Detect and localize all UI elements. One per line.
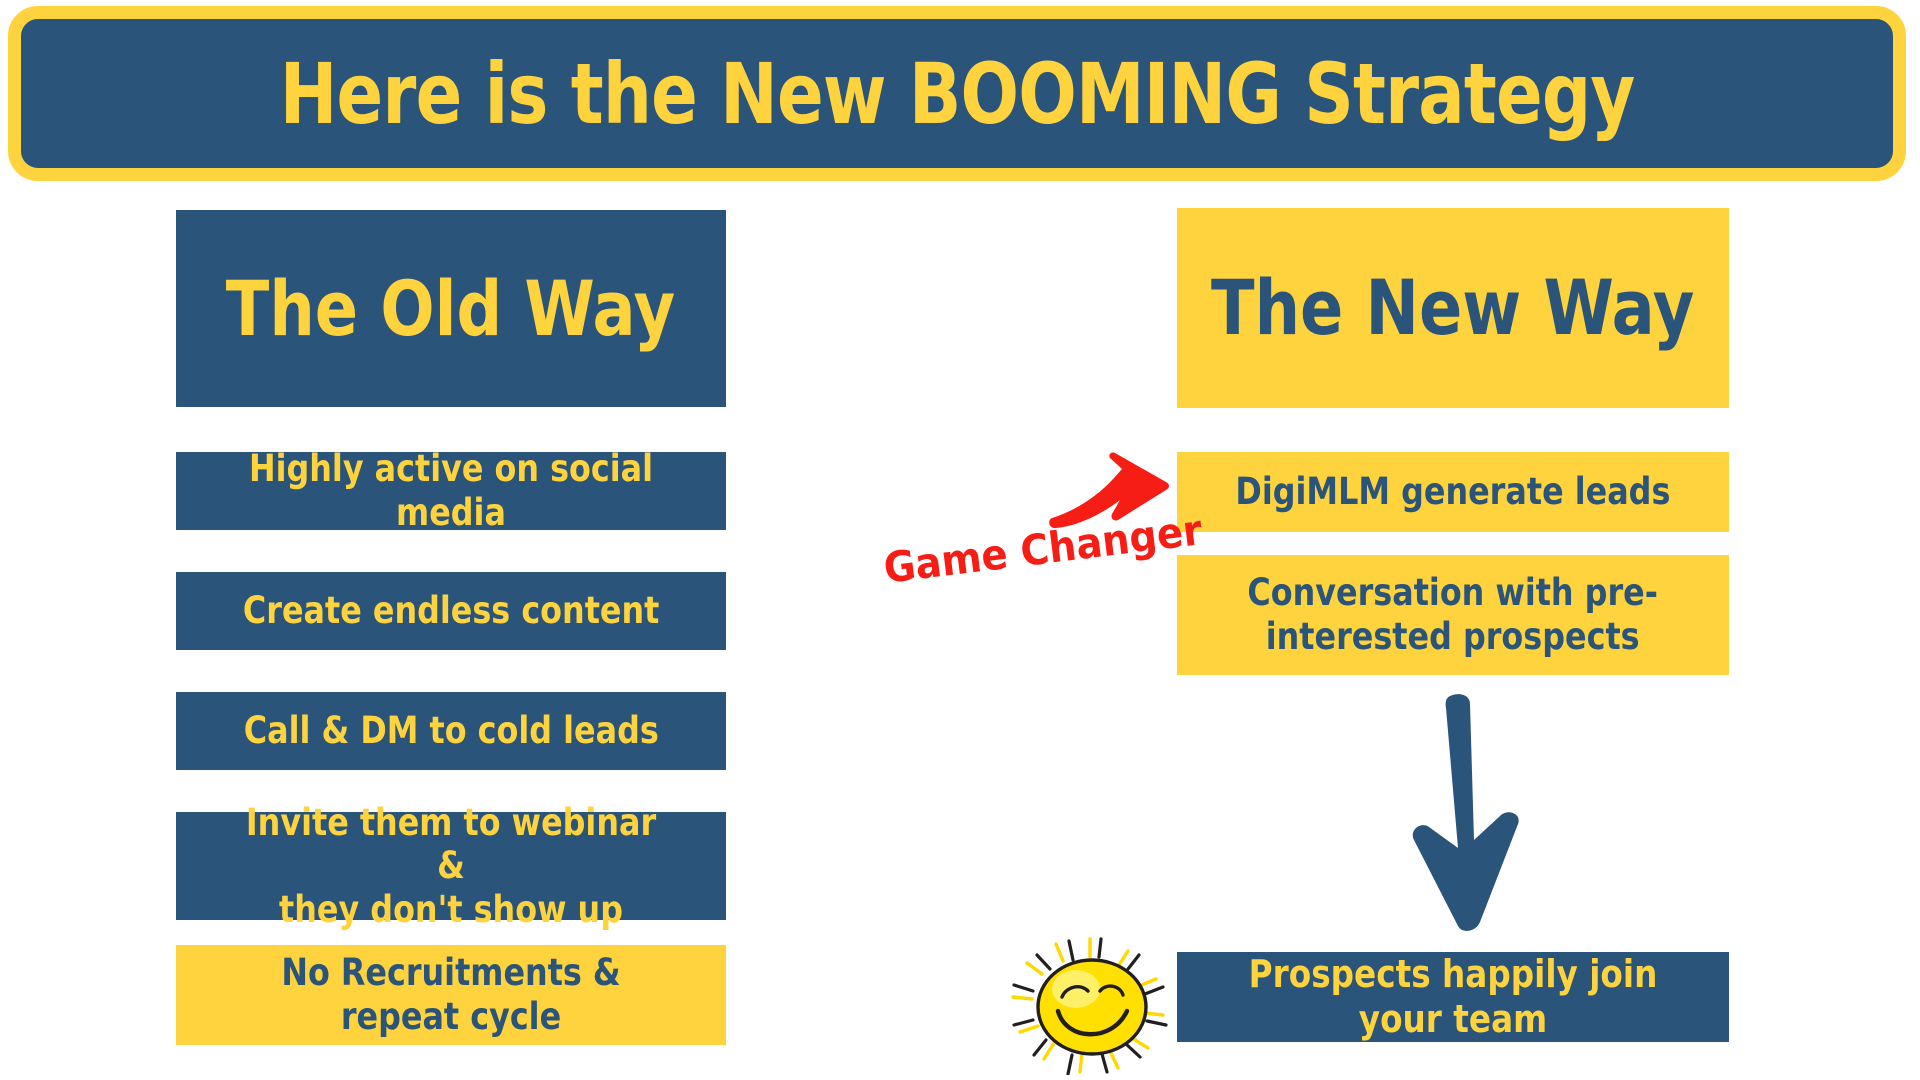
- old-way-item: No Recruitments & repeat cycle: [176, 945, 726, 1045]
- new-way-heading: The New Way: [1177, 208, 1729, 408]
- old-way-item: Call & DM to cold leads: [176, 692, 726, 770]
- old-way-item-label: Highly active on social media: [227, 447, 676, 534]
- new-way-item: Prospects happily join your team: [1177, 952, 1729, 1042]
- old-way-item: Invite them to webinar & they don't show…: [176, 812, 726, 920]
- curved-right-arrow-icon: [1046, 442, 1186, 532]
- down-arrow-icon: [1400, 690, 1530, 935]
- new-way-item-label: Conversation with pre- interested prospe…: [1248, 571, 1659, 658]
- old-way-item-label: Create endless content: [243, 589, 659, 633]
- old-way-item-label: Call & DM to cold leads: [243, 709, 658, 753]
- old-way-heading-label: The Old Way: [226, 271, 675, 347]
- old-way-item-label: Invite them to webinar & they don't show…: [227, 801, 676, 932]
- old-way-item: Highly active on social media: [176, 452, 726, 530]
- new-way-item: DigiMLM generate leads: [1177, 452, 1729, 532]
- new-way-heading-label: The New Way: [1211, 270, 1694, 346]
- smiling-sun-icon: [1008, 935, 1173, 1075]
- new-way-item-label: DigiMLM generate leads: [1236, 470, 1671, 514]
- header-banner: Here is the New BOOMING Strategy: [8, 6, 1906, 181]
- old-way-item-label: No Recruitments & repeat cycle: [227, 951, 676, 1038]
- old-way-item: Create endless content: [176, 572, 726, 650]
- old-way-heading: The Old Way: [176, 210, 726, 407]
- new-way-item: Conversation with pre- interested prospe…: [1177, 555, 1729, 675]
- page-title: Here is the New BOOMING Strategy: [280, 52, 1635, 136]
- new-way-item-label: Prospects happily join your team: [1228, 952, 1679, 1042]
